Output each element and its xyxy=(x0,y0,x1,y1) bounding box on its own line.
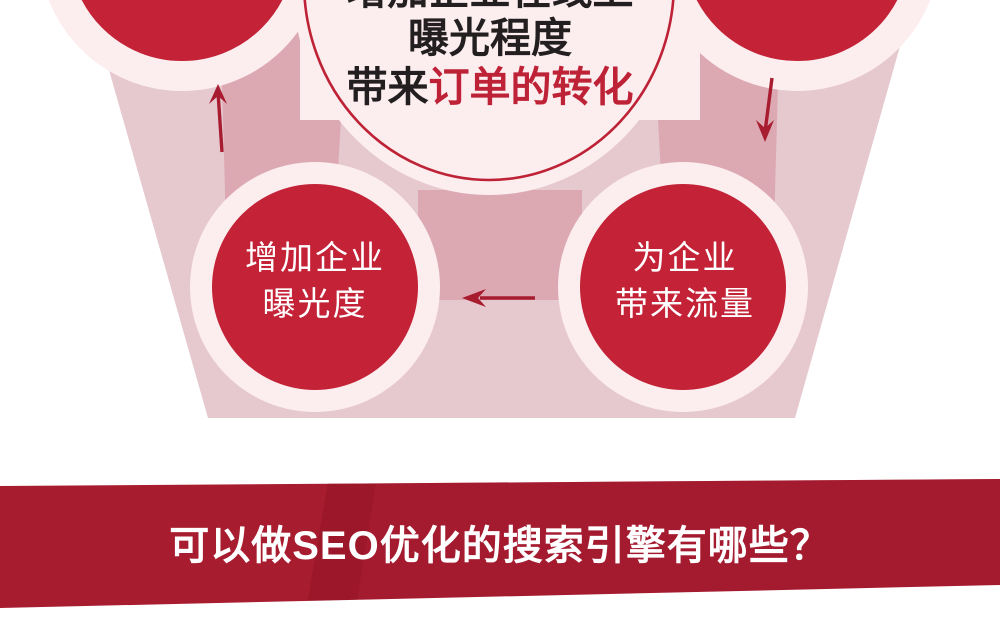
center-bubble-line-3-accent: 订单的转化 xyxy=(429,64,634,110)
center-bubble-text: 增加企业在线上 曝光程度 带来订单的转化 xyxy=(290,0,690,111)
node-label-bottom-left-line-2: 曝光度 xyxy=(200,285,430,324)
infographic-stage: 增加企业在线上 曝光程度 带来订单的转化 增加企业 曝光度 为企业 带来流量 可… xyxy=(0,0,1000,635)
center-bubble-line-3-plain: 带来 xyxy=(347,64,429,110)
center-bubble-line-1: 增加企业在线上 xyxy=(290,0,690,14)
node-label-bottom-right-line-2: 带来流量 xyxy=(570,285,800,324)
center-bubble-line-3: 带来订单的转化 xyxy=(290,63,690,111)
node-label-bottom-left-line-1: 增加企业 xyxy=(200,239,430,278)
node-label-bottom-right: 为企业 带来流量 xyxy=(570,232,800,331)
banner-heading: 可以做SEO优化的搜索引擎有哪些？ xyxy=(0,513,1000,571)
node-label-bottom-left: 增加企业 曝光度 xyxy=(200,232,430,331)
center-bubble-line-2: 曝光程度 xyxy=(290,14,690,62)
node-label-bottom-right-line-1: 为企业 xyxy=(570,239,800,278)
